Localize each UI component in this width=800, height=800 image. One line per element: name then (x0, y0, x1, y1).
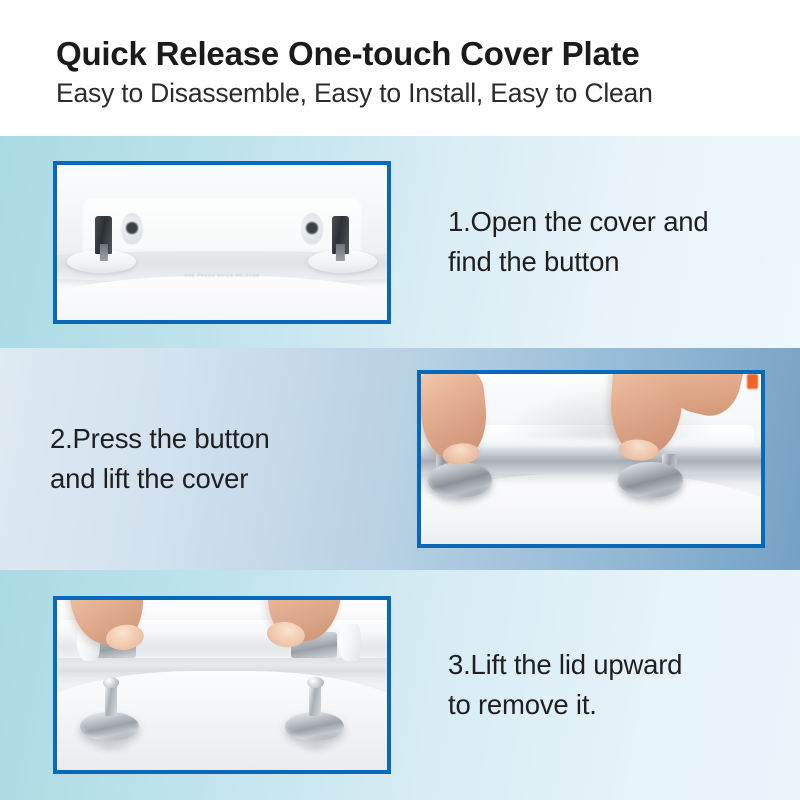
photo-lifting-lid (57, 600, 387, 770)
step-row-3: 3.Lift the lid upward to remove it. (0, 570, 800, 800)
hinge-ball-right (307, 677, 324, 688)
hinge-stem-right (309, 685, 321, 716)
step-row-2: 2.Press the button and lift the cover (0, 348, 800, 570)
hinge-disc-left (428, 462, 493, 498)
hinge-post-right (332, 216, 349, 255)
infographic-page: Quick Release One-touch Cover Plate Easy… (0, 0, 800, 800)
hinge-ball-left (103, 677, 120, 688)
step-1-caption: 1.Open the cover and find the button (391, 202, 800, 282)
disc-reflection-left (93, 745, 129, 754)
photo-hands-pressing-buttons (421, 374, 761, 544)
lid-end-cap-right (338, 624, 361, 661)
disc-reflection-right (298, 745, 334, 754)
hinge-stem-left (105, 685, 117, 716)
page-title: Quick Release One-touch Cover Plate (56, 36, 800, 73)
hinge-post-left (95, 216, 112, 255)
step-2-caption: 2.Press the button and lift the cover (0, 419, 417, 499)
step-2-photo (417, 370, 765, 548)
hinge-disc-right (285, 712, 344, 741)
hinge-disc-right (618, 462, 683, 498)
release-button-right (306, 222, 318, 234)
step-1-photo: ONE-PRESS QUICK RELEASE (53, 161, 391, 324)
product-brand-text: ONE-PRESS QUICK RELEASE (184, 273, 260, 278)
step-3-caption: 3.Lift the lid upward to remove it. (391, 645, 800, 725)
step-row-1: ONE-PRESS QUICK RELEASE 1.Open the cover… (0, 136, 800, 348)
toilet-bowl (57, 276, 387, 319)
step-3-photo (53, 596, 391, 774)
header: Quick Release One-touch Cover Plate Easy… (0, 0, 800, 136)
page-subtitle: Easy to Disassemble, Easy to Install, Ea… (56, 78, 800, 108)
photo-seat-with-buttons: ONE-PRESS QUICK RELEASE (57, 165, 387, 320)
orange-accent (747, 374, 757, 389)
